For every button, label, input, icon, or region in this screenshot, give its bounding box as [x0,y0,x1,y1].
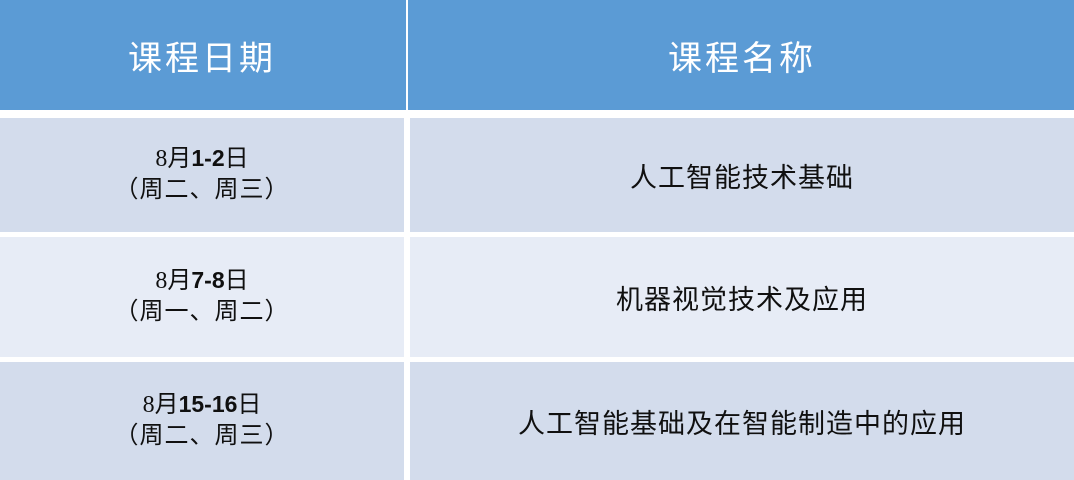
cell-course-date: 8月7-8日 （周一、周二） [0,237,404,357]
cell-course-date: 8月15-16日 （周二、周三） [0,362,404,480]
date-number: 7-8 [191,267,224,293]
date-weekdays: （周二、周三） [0,421,404,452]
cell-course-name: 机器视觉技术及应用 [410,237,1074,357]
date-text: 8月7-8日 [0,266,404,297]
date-suffix: 日 [237,392,261,418]
date-text: 8月1-2日 [0,144,404,175]
table-row: 8月7-8日 （周一、周二） 机器视觉技术及应用 [0,237,1074,357]
date-prefix: 8月 [143,392,179,418]
gap-cell [410,110,1074,118]
gap-cell [0,110,404,118]
date-weekdays: （周一、周二） [0,297,404,328]
date-prefix: 8月 [155,268,191,294]
course-schedule-table: 课程日期 课程名称 8月1-2日 （周二、周三） 人工智能技术基础 [0,0,1074,480]
column-header-course-name: 课程名称 [410,0,1074,110]
date-text: 8月15-16日 [0,390,404,421]
date-suffix: 日 [225,146,249,172]
cell-course-name: 人工智能基础及在智能制造中的应用 [410,362,1074,480]
cell-course-date: 8月1-2日 （周二、周三） [0,118,404,232]
table-row: 8月1-2日 （周二、周三） 人工智能技术基础 [0,118,1074,232]
date-number: 15-16 [179,391,238,417]
table-row: 8月15-16日 （周二、周三） 人工智能基础及在智能制造中的应用 [0,362,1074,480]
date-number: 1-2 [191,145,224,171]
header-body-gap [0,110,1074,118]
date-prefix: 8月 [155,146,191,172]
date-weekdays: （周二、周三） [0,175,404,206]
date-suffix: 日 [225,268,249,294]
header-column-divider [404,0,410,110]
column-header-course-date: 课程日期 [0,0,404,110]
cell-course-name: 人工智能技术基础 [410,118,1074,232]
table-header-row: 课程日期 课程名称 [0,0,1074,110]
header-divider-line [406,0,408,110]
